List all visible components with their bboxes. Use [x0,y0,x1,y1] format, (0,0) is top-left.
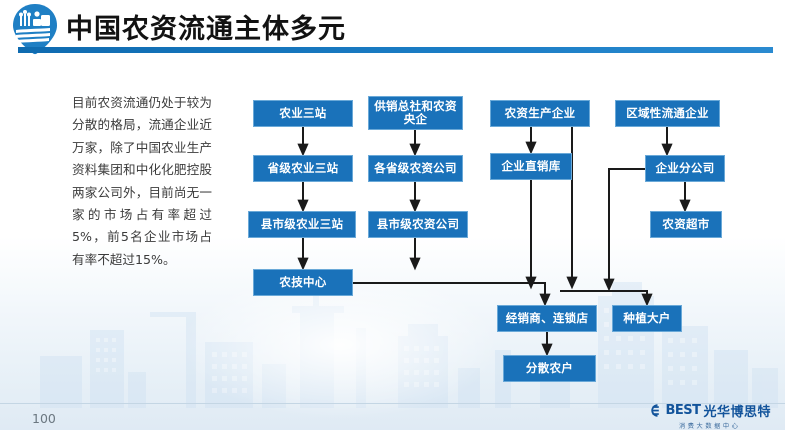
brand-mark: BEST [665,403,700,418]
node-provincial-agri-company[interactable]: 各省级农资公司 [368,155,463,182]
node-regional-distributor[interactable]: 区域性流通企业 [615,100,720,127]
node-label: 供销总社和农资央企 [369,100,462,127]
node-label: 农技中心 [279,276,326,290]
brand-logo: BEST 光华博思特 消费大数据中心 [648,403,771,427]
slide: 中国农资流通主体多元 目前农资流通仍处于较为分散的格局，流通企业近万家，除了中国… [0,0,785,430]
node-agri-producer[interactable]: 农资生产企业 [490,100,590,127]
node-agri-tech-center[interactable]: 农技中心 [253,269,353,296]
node-label: 区域性流通企业 [626,107,709,121]
node-county-agri-company[interactable]: 县市级农资公司 [368,211,468,238]
node-supply-coop-central[interactable]: 供销总社和农资央企 [368,96,463,130]
node-provincial-three-stations[interactable]: 省级农业三站 [253,155,353,182]
node-smallholder-farmer[interactable]: 分散农户 [503,355,596,382]
brand-subtitle: 消费大数据中心 [679,421,741,430]
brand-logo-row: BEST 光华博思特 [648,401,771,420]
node-branch-company[interactable]: 企业分公司 [645,155,725,182]
node-label: 省级农业三站 [268,162,339,176]
node-large-grower[interactable]: 种植大户 [612,305,682,332]
node-direct-sales-warehouse[interactable]: 企业直销库 [490,153,572,180]
node-label: 分散农户 [526,362,573,376]
best-logo-icon [648,404,662,417]
node-agri-supermarket[interactable]: 农资超市 [650,211,722,238]
node-label: 县市级农资公司 [377,218,460,232]
node-label: 经销商、连锁店 [506,312,589,326]
node-label: 种植大户 [623,312,670,326]
node-agri-three-stations[interactable]: 农业三站 [253,100,353,127]
node-dealer-chain-store[interactable]: 经销商、连锁店 [497,305,597,332]
node-county-three-stations[interactable]: 县市级农业三站 [248,211,356,238]
page-number: 100 [32,411,56,426]
node-label: 企业分公司 [656,162,715,176]
node-label: 农资生产企业 [505,107,576,121]
node-label: 县市级农业三站 [261,218,344,232]
brand-name: 光华博思特 [703,401,771,420]
node-label: 农资超市 [662,218,709,232]
node-label: 企业直销库 [502,160,561,174]
flow-diagram: 农业三站 供销总社和农资央企 农资生产企业 区域性流通企业 省级农业三站 各省级… [0,0,785,430]
node-label: 各省级农资公司 [374,162,457,176]
node-label: 农业三站 [279,107,326,121]
